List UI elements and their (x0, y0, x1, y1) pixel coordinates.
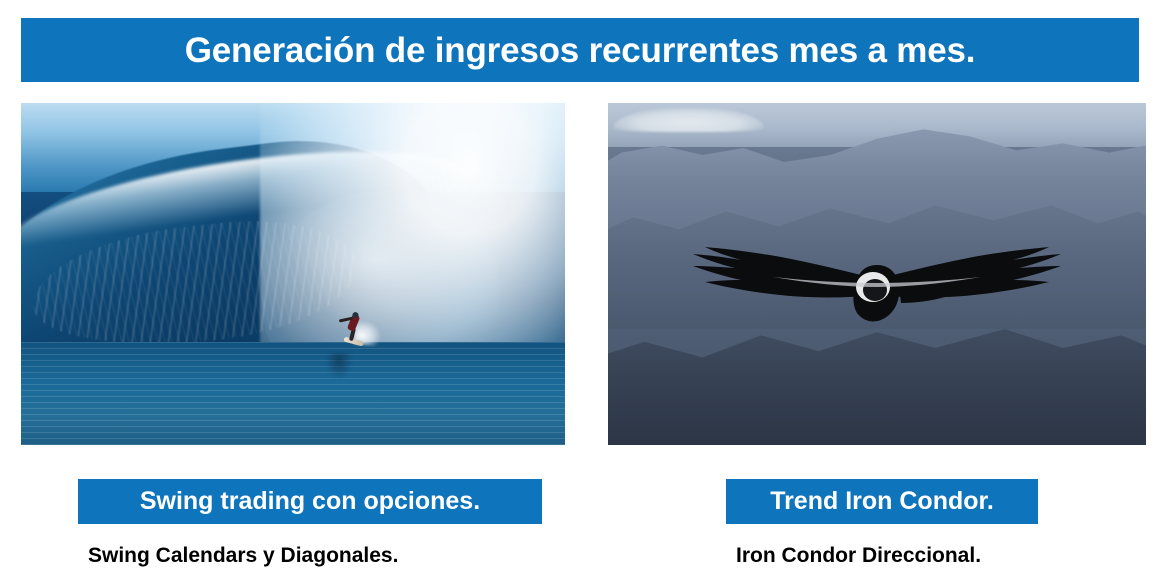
wave-illustration (21, 103, 565, 445)
subcaption-iron-condor-direccional: Iron Condor Direccional. (736, 545, 981, 566)
surfer-figure (338, 310, 371, 347)
condor-illustration (608, 103, 1146, 445)
surfer-reflection (326, 353, 352, 379)
subcaption-swing-calendars: Swing Calendars y Diagonales. (88, 545, 398, 566)
wave-spray (260, 103, 565, 383)
page-title: Generación de ingresos recurrentes mes a… (185, 33, 976, 68)
foreground-water (21, 342, 565, 445)
caption-badge-swing-trading: Swing trading con opciones. (78, 479, 542, 524)
condor-bird-icon (649, 225, 1105, 337)
photo-trend-iron-condor (608, 103, 1146, 445)
header-bar: Generación de ingresos recurrentes mes a… (21, 18, 1139, 82)
slide-root: Generación de ingresos recurrentes mes a… (0, 0, 1155, 584)
caption-badge-trend-iron-condor: Trend Iron Condor. (726, 479, 1038, 524)
photo-swing-trading (21, 103, 565, 445)
